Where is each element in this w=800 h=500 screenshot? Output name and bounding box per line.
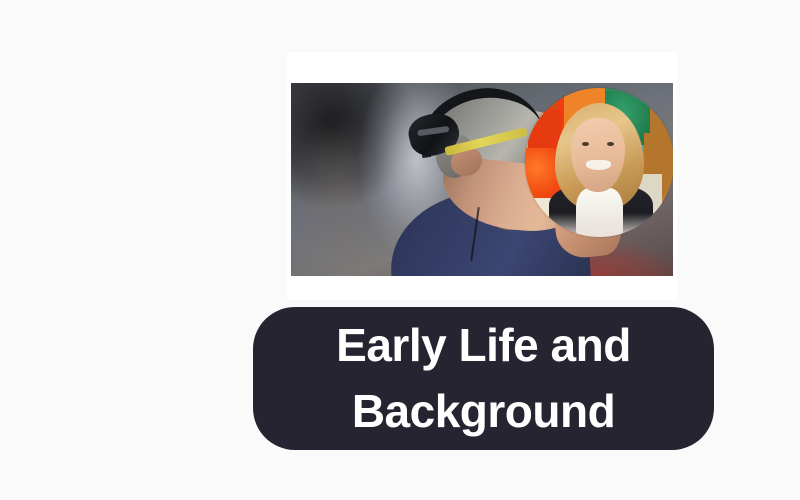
art-block-brown <box>644 133 673 178</box>
woman-smile <box>586 160 611 170</box>
headline-line-2: Background <box>352 379 615 444</box>
inset-portrait <box>525 88 673 237</box>
headline-line-1: Early Life and <box>336 313 631 378</box>
main-photo <box>291 83 673 276</box>
slide-canvas: Early Life and Background <box>0 0 800 500</box>
photo-card <box>287 52 677 300</box>
woman-eye-left <box>582 142 589 146</box>
headline-banner: Early Life and Background <box>253 307 714 450</box>
inset-bottom-fade <box>525 213 673 237</box>
art-block-red <box>528 109 561 148</box>
